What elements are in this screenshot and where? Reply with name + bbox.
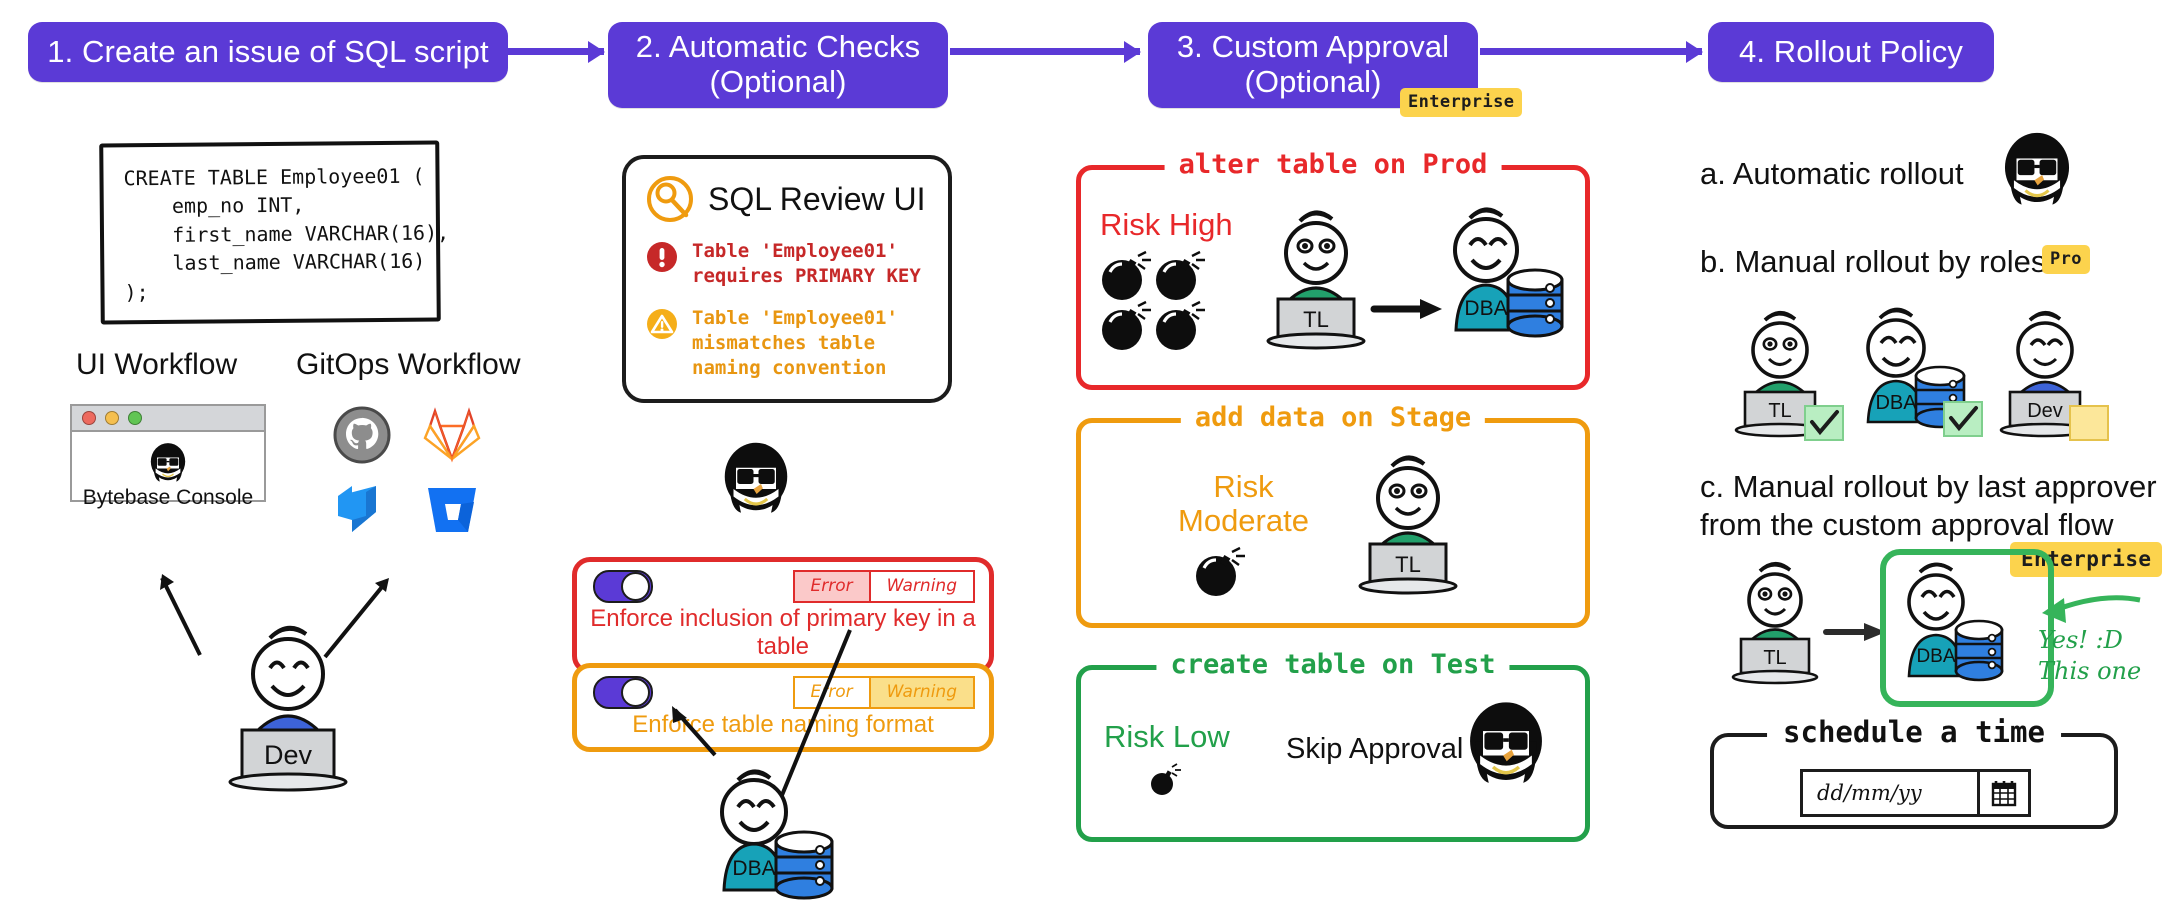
window-titlebar (72, 406, 264, 432)
window-content: Bytebase Console (72, 432, 264, 522)
enterprise-callout-note: Yes! :D This one (2038, 625, 2141, 687)
approver-tl-prod-label: TL (1303, 307, 1329, 332)
bytebase-avatar-icon (146, 442, 190, 484)
rollout-role-dev: Dev (1990, 306, 2140, 446)
dba-actor-step2: DBA (710, 760, 870, 910)
calendar-icon[interactable] (1977, 772, 2028, 814)
rollout-option-c-label: c. Manual rollout by last approver from … (1700, 468, 2157, 544)
error-exclamation-icon (646, 241, 678, 273)
approval-group-stage: add data on Stage (1076, 418, 1590, 628)
dev-actor: Dev (208, 612, 408, 802)
ui-workflow-title: UI Workflow (76, 348, 237, 382)
rollout-option-a-label: a. Automatic rollout (1700, 155, 1964, 193)
review-finding-error-text: Table 'Employee01' requires PRIMARY KEY (692, 239, 921, 290)
step-1-label: 1. Create an issue of SQL script (47, 35, 488, 70)
bytebase-console-window[interactable]: Bytebase Console (70, 404, 266, 502)
skip-approval-avatar (1460, 700, 1552, 788)
risk-bombs-test (1148, 762, 1194, 804)
sql-review-header: SQL Review UI (646, 175, 928, 223)
schedule-date-value[interactable]: dd/mm/yy (1803, 772, 1977, 814)
pending-badge (2070, 406, 2108, 440)
step-2-header[interactable]: 2. Automatic Checks (Optional) (608, 22, 948, 108)
approver-dba-prod-label: DBA (1464, 297, 1507, 320)
risk-bombs-prod (1098, 252, 1228, 362)
dev-actor-label: Dev (264, 740, 313, 770)
schedule-a-time-title: schedule a time (1767, 715, 2061, 749)
schedule-date-input[interactable]: dd/mm/yy (1800, 769, 2031, 817)
rollout-role-dba-label: DBA (1875, 392, 1917, 414)
console-label: Bytebase Console (83, 486, 253, 510)
sql-review-avatar (716, 440, 796, 518)
rollout-c-tl-label: TL (1763, 647, 1786, 669)
skip-approval-label: Skip Approval (1286, 733, 1463, 766)
gitops-provider-icons (330, 404, 494, 540)
review-finding-warning-text: Table 'Employee01' mismatches table nami… (692, 306, 898, 382)
sql-script-text: CREATE TABLE Employee01 ( emp_no INT, fi… (103, 145, 436, 321)
risk-level-prod: Risk High (1100, 208, 1233, 242)
step-1-header[interactable]: 1. Create an issue of SQL script (28, 22, 508, 82)
risk-level-stage: Risk Moderate (1178, 470, 1309, 538)
approval-group-prod-title: alter table on Prod (1165, 149, 1502, 180)
approved-check-badge (1944, 402, 1982, 436)
step-4-label: 4. Rollout Policy (1739, 35, 1963, 70)
step-3-label-line2: (Optional) (1244, 65, 1381, 100)
approver-tl-stage: TL (1350, 450, 1510, 600)
approved-check-badge (1805, 406, 1843, 440)
rollout-c-dba-label: DBA (1916, 646, 1955, 667)
rollout-role-tl-label: TL (1768, 400, 1791, 422)
rule-toggle-primary-key[interactable] (593, 570, 653, 603)
approval-group-test-title: create table on Test (1156, 649, 1509, 680)
dba-actor-label: DBA (732, 857, 775, 880)
arrow-step3-step4 (1480, 48, 1702, 55)
approver-tl-stage-label: TL (1395, 552, 1421, 577)
approval-group-stage-title: add data on Stage (1181, 402, 1485, 433)
risk-level-test: Risk Low (1104, 720, 1230, 754)
approval-flow-arrow-prod (1372, 296, 1448, 322)
gitlab-icon[interactable] (420, 404, 484, 466)
approver-dba-prod: DBA (1440, 200, 1610, 350)
review-finding-error: Table 'Employee01' requires PRIMARY KEY (646, 239, 928, 290)
rollout-option-b-badge: Pro (2042, 245, 2090, 274)
sql-review-card: SQL Review UI Table 'Employee01' require… (622, 155, 952, 403)
sql-script-card: CREATE TABLE Employee01 ( emp_no INT, fi… (99, 141, 441, 325)
step-3-label-line1: 3. Custom Approval (1177, 30, 1449, 65)
rollout-role-dev-label: Dev (2027, 400, 2063, 422)
window-close-dot[interactable] (82, 411, 96, 425)
database-cylinder-icon (1956, 621, 2002, 680)
rollout-option-b-label: b. Manual rollout by roles (1700, 243, 2046, 281)
step-2-label-line1: 2. Automatic Checks (636, 30, 920, 65)
bitbucket-icon[interactable] (420, 478, 484, 540)
approver-tl-prod: TL (1258, 205, 1418, 355)
database-cylinder-icon (776, 832, 832, 898)
database-cylinder-icon (1508, 270, 1562, 336)
arrow-step2-step3 (950, 48, 1140, 55)
review-finding-warning: Table 'Employee01' mismatches table nami… (646, 306, 928, 382)
sql-review-title: SQL Review UI (708, 181, 926, 218)
step-4-header[interactable]: 4. Rollout Policy (1708, 22, 1994, 82)
step-3-enterprise-badge: Enterprise (1400, 88, 1522, 117)
rollout-a-avatar (1996, 130, 2078, 210)
step-2-label-line2: (Optional) (709, 65, 846, 100)
arrow-step1-step2 (508, 48, 604, 55)
window-maximize-dot[interactable] (128, 411, 142, 425)
github-icon[interactable] (330, 404, 394, 466)
risk-bombs-stage (1192, 546, 1262, 612)
warning-triangle-icon (646, 308, 678, 340)
window-minimize-dot[interactable] (105, 411, 119, 425)
rule-toggle-table-naming[interactable] (593, 676, 653, 709)
magnifier-icon (646, 175, 694, 223)
azure-devops-icon[interactable] (330, 478, 394, 540)
gitops-workflow-title: GitOps Workflow (296, 348, 521, 382)
